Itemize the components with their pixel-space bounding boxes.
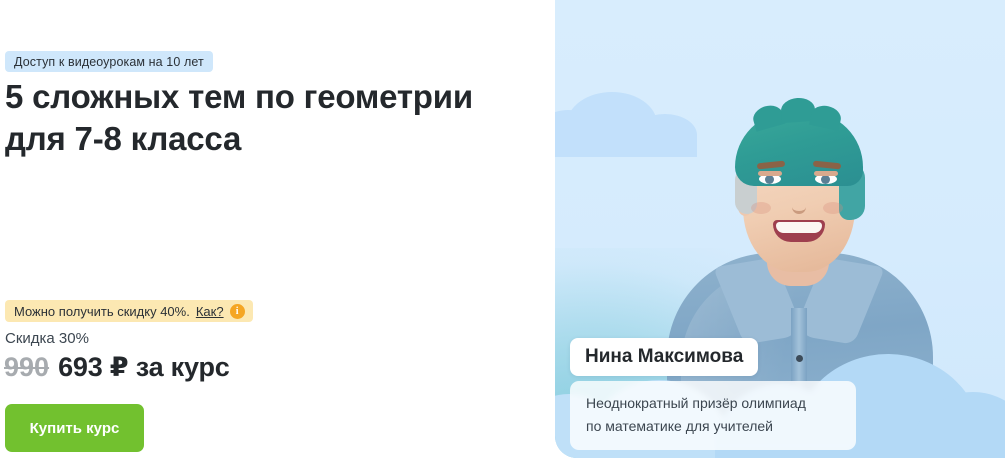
discount-hint-badge[interactable]: Можно получить скидку 40%. Как? i bbox=[5, 300, 253, 322]
info-icon[interactable]: i bbox=[230, 304, 245, 319]
page-title: 5 сложных тем по геометрии для 7-8 класс… bbox=[5, 76, 535, 160]
instructor-bio-card: Неоднократный призёр олимпиад по математ… bbox=[570, 381, 856, 450]
access-duration-badge: Доступ к видеоурокам на 10 лет bbox=[5, 51, 213, 72]
discount-percent-label: Скидка 30% bbox=[5, 330, 89, 347]
discount-hint-text: Можно получить скидку 40%. bbox=[14, 304, 190, 319]
old-price: 990 bbox=[4, 352, 49, 383]
instructor-bio-line-1: Неоднократный призёр олимпиад bbox=[586, 392, 840, 415]
current-price: 693 ₽ за курс bbox=[58, 352, 230, 383]
instructor-name: Нина Максимова bbox=[585, 346, 743, 368]
access-duration-label: Доступ к видеоурокам на 10 лет bbox=[14, 55, 204, 69]
instructor-panel: Нина Максимова Неоднократный призёр олим… bbox=[555, 0, 1005, 458]
instructor-name-card: Нина Максимова bbox=[570, 338, 758, 376]
promo-left-column: Доступ к видеоурокам на 10 лет 5 сложных… bbox=[0, 0, 555, 458]
smile bbox=[773, 220, 825, 242]
nose bbox=[792, 194, 806, 214]
how-to-get-discount-link[interactable]: Как? bbox=[196, 304, 224, 319]
price-row: 990 693 ₽ за курс bbox=[4, 352, 230, 383]
instructor-bio-line-2: по математике для учителей bbox=[586, 415, 840, 438]
course-promo-banner: Доступ к видеоурокам на 10 лет 5 сложных… bbox=[0, 0, 1005, 458]
buy-course-button[interactable]: Купить курс bbox=[5, 404, 144, 452]
